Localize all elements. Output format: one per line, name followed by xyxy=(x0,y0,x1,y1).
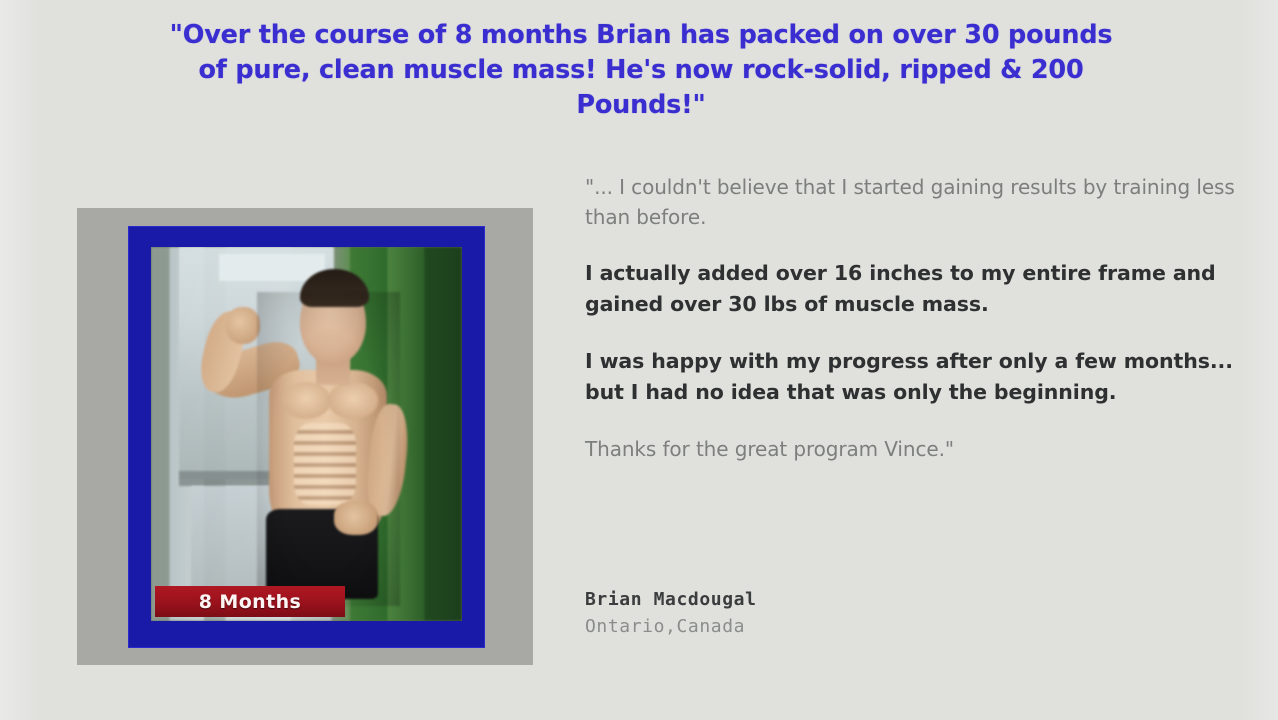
testimonial-paragraph-4: Thanks for the great program Vince." xyxy=(585,434,1245,464)
months-badge-label: 8 Months xyxy=(199,591,301,613)
testimonial-paragraph-1: "... I couldn't believe that I started g… xyxy=(585,172,1245,232)
signature-region: Ontario,Canada xyxy=(585,613,1105,640)
headline-line-2: of pure, clean muscle mass! He's now roc… xyxy=(36,53,1246,88)
signature-name: Brian Macdougal xyxy=(585,586,1105,613)
page-headline: "Over the course of 8 months Brian has p… xyxy=(36,18,1246,123)
testimonial-text: "... I couldn't believe that I started g… xyxy=(585,172,1245,490)
testimonial-page: "Over the course of 8 months Brian has p… xyxy=(0,0,1278,720)
testimonial-signature: Brian Macdougal Ontario,Canada xyxy=(585,586,1105,640)
testimonial-paragraph-3: I was happy with my progress after only … xyxy=(585,346,1245,408)
headline-line-1: "Over the course of 8 months Brian has p… xyxy=(36,18,1246,53)
testimonial-paragraph-2: I actually added over 16 inches to my en… xyxy=(585,258,1245,320)
headline-line-3: Pounds!" xyxy=(36,88,1246,123)
testimonial-photo-border xyxy=(128,226,485,648)
months-badge: 8 Months xyxy=(155,586,345,617)
photo-vignette xyxy=(257,292,400,606)
photo-subject-fist xyxy=(226,307,260,344)
testimonial-photo xyxy=(151,247,462,621)
